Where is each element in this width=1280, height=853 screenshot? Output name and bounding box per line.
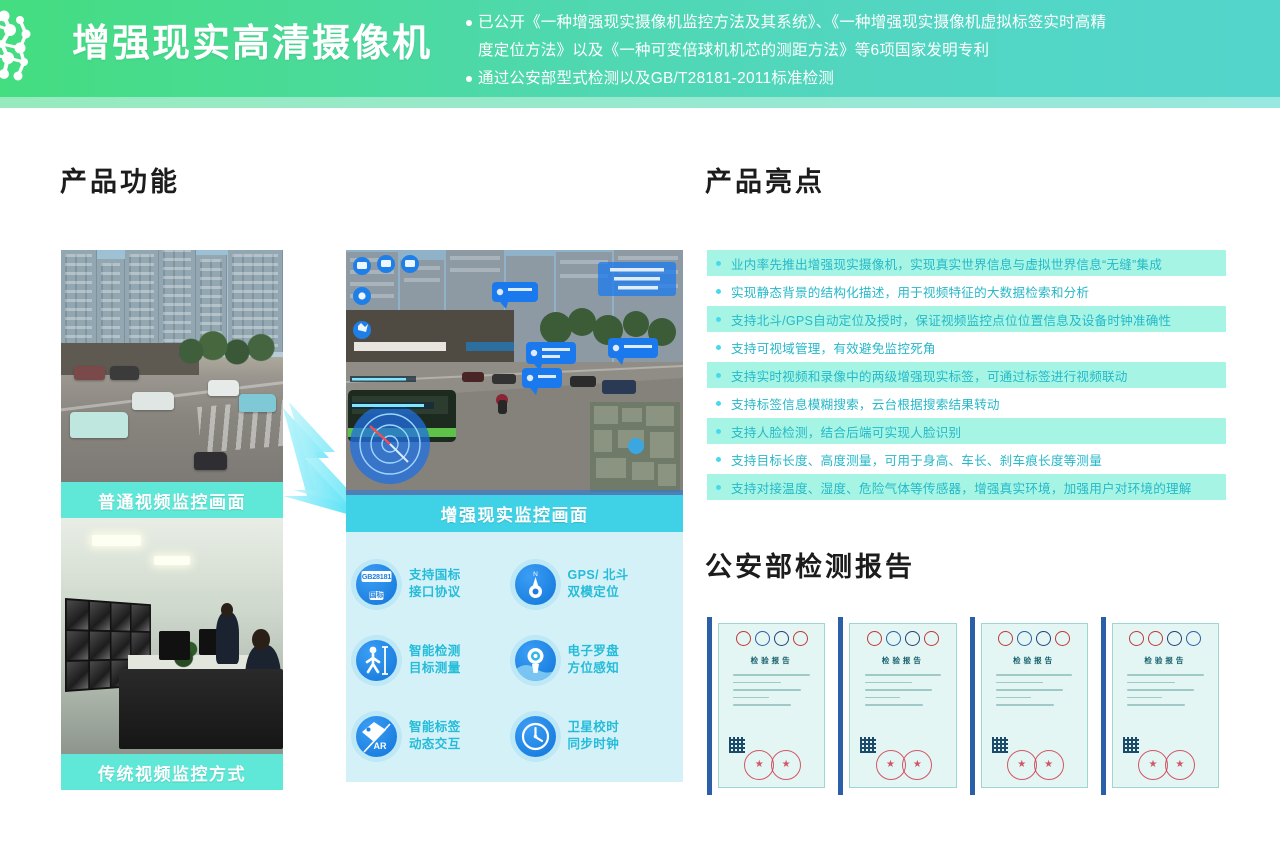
photo-person-standing xyxy=(216,612,238,664)
feature-label: 智能检测 目标测量 xyxy=(409,643,461,677)
svg-text:N: N xyxy=(533,571,538,578)
photo-car xyxy=(208,380,239,396)
photo-monitor xyxy=(159,631,190,659)
bullet-dot-icon xyxy=(716,373,721,378)
feature-electronic-compass[interactable]: 电子罗盘 方位感知 xyxy=(515,624,674,696)
heading-inspection-report: 公安部检测报告 xyxy=(705,545,915,584)
official-stamp-icon xyxy=(744,750,774,780)
bullet-dot-icon xyxy=(716,401,721,406)
feature-label-line1: GPS/ 北斗 xyxy=(568,568,629,582)
certificate-logos xyxy=(725,631,818,646)
photo-car xyxy=(194,452,227,471)
a-mark-logo-icon xyxy=(1055,631,1070,646)
feature-label-line2: 接口协议 xyxy=(409,585,461,599)
photo-building xyxy=(61,250,97,352)
feature-label-line2: 方位感知 xyxy=(568,661,620,675)
certificate-title: 检验报告 xyxy=(1013,655,1055,666)
feature-gps-beidou[interactable]: N GPS/ 北斗 双模定位 xyxy=(515,548,674,620)
official-stamp-icon xyxy=(771,750,801,780)
highlight-text: 支持目标长度、高度测量，可用于身高、车长、刹车痕长度等测量 xyxy=(731,450,1102,469)
cnas-logo-icon xyxy=(1186,631,1201,646)
feature-label-line1: 智能标签 xyxy=(409,720,461,734)
inspection-report-certificate-3[interactable]: 检验报告 xyxy=(970,617,1095,795)
street-intersection-surveillance-photo xyxy=(61,250,283,482)
cnas-logo-icon xyxy=(1036,631,1051,646)
lab-logo-icon xyxy=(886,631,901,646)
header-bullet-text: 通过公安部型式检测以及GB/T28181-2011标准检测 xyxy=(478,66,834,91)
certificate-title: 检验报告 xyxy=(882,655,924,666)
bullet-dot-icon xyxy=(716,317,721,322)
certificate-body-lines xyxy=(865,674,941,712)
inspection-report-certificate-2[interactable]: 检验报告 xyxy=(838,617,963,795)
gb28181-badge-bottom: 国标 xyxy=(370,591,384,600)
highlights-list: 业内率先推出增强现实摄像机，实现真实世界信息与虚拟世界信息“无缝”集成 实现静态… xyxy=(707,250,1226,502)
header-bullet-list: 已公开《一种增强现实摄像机监控方法及其系统》、《一种增强现实摄像机虚拟标签实时高… xyxy=(466,10,1266,94)
svg-text:AR: AR xyxy=(374,741,387,751)
ar-augmented-street-monitoring-screenshot xyxy=(346,250,683,495)
certificate-logos xyxy=(856,631,949,646)
header-bullet-text-2: 度定位方法》以及《一种可变倍球机机芯的测距方法》等6项国家发明专利 xyxy=(466,38,989,63)
photo-car xyxy=(132,392,174,411)
feature-label-line2: 双模定位 xyxy=(568,585,620,599)
photo-car xyxy=(70,412,128,438)
ar-tag-icon: AR xyxy=(356,716,397,757)
photo-ceiling-lamp xyxy=(154,556,190,565)
electronic-compass-icon xyxy=(515,640,556,681)
a-mark-logo-icon xyxy=(924,631,939,646)
bullet-dot-icon xyxy=(466,20,472,26)
cma-logo-icon xyxy=(736,631,751,646)
list-item: 支持可视域管理，有效避免监控死角 xyxy=(707,334,1226,360)
page-header: 增强现实高清摄像机 已公开《一种增强现实摄像机监控方法及其系统》、《一种增强现实… xyxy=(0,0,1280,97)
header-bullet-text: 已公开《一种增强现实摄像机监控方法及其系统》、《一种增强现实摄像机虚拟标签实时高… xyxy=(478,10,1106,35)
qr-code-icon xyxy=(1123,737,1139,753)
a-mark-logo-icon xyxy=(793,631,808,646)
highlight-text: 业内率先推出增强现实摄像机，实现真实世界信息与虚拟世界信息“无缝”集成 xyxy=(731,254,1162,273)
feature-label: 支持国标 接口协议 xyxy=(409,567,461,601)
feature-gb28181[interactable]: GB28181 国标 支持国标 接口协议 xyxy=(356,548,515,620)
certificate-title: 检验报告 xyxy=(751,655,793,666)
list-item: 支持人脸检测，结合后端可实现人脸识别 xyxy=(707,418,1226,444)
lab-logo-icon xyxy=(1017,631,1032,646)
photo-ceiling xyxy=(61,518,283,589)
feature-label-line1: 卫星校时 xyxy=(568,720,620,734)
photo-trees xyxy=(179,329,279,366)
cnas-logo-icon xyxy=(774,631,789,646)
list-item: 支持对接温度、湿度、危险气体等传感器，增强真实环境，加强用户对环境的理解 xyxy=(707,474,1226,500)
photo-card-traditional-surveillance: 传统视频监控方式 xyxy=(61,518,283,790)
bullet-dot-icon xyxy=(466,76,472,82)
qr-code-icon xyxy=(860,737,876,753)
photo-building xyxy=(97,259,126,352)
feature-label: 卫星校时 同步时钟 xyxy=(568,719,620,753)
photo-building xyxy=(125,250,158,352)
ar-panel-caption: 增强现实监控画面 xyxy=(346,495,683,532)
official-stamp-icon xyxy=(1034,750,1064,780)
gb28181-badge-icon: GB28181 国标 xyxy=(356,564,397,605)
compass-needle-icon: N xyxy=(515,564,556,605)
header-accent-strip xyxy=(0,97,1280,108)
list-item: 支持北斗/GPS自动定位及授时，保证视频监控点位位置信息及设备时钟准确性 xyxy=(707,306,1226,332)
feature-label-line1: 支持国标 xyxy=(409,568,461,582)
certificate-body-lines xyxy=(1127,674,1203,712)
feature-label-line2: 目标测量 xyxy=(409,661,461,675)
highlight-text: 支持可视域管理，有效避免监控死角 xyxy=(731,338,936,357)
feature-label: 智能标签 动态交互 xyxy=(409,719,461,753)
inspection-report-certificate-4[interactable]: 检验报告 xyxy=(1101,617,1226,795)
bullet-dot-icon xyxy=(716,345,721,350)
certificate-body-lines xyxy=(996,674,1072,712)
feature-ar-tag[interactable]: AR 智能标签 动态交互 xyxy=(356,700,515,772)
header-bullet-item: 已公开《一种增强现实摄像机监控方法及其系统》、《一种增强现实摄像机虚拟标签实时高… xyxy=(466,10,1266,35)
photo-ceiling-lamp xyxy=(92,535,141,547)
photo-caption: 传统视频监控方式 xyxy=(61,754,283,790)
certificate-logos xyxy=(988,631,1081,646)
photo-car xyxy=(110,366,139,380)
bullet-dot-icon xyxy=(716,289,721,294)
lab-logo-icon xyxy=(1167,631,1182,646)
feature-label-line1: 智能检测 xyxy=(409,644,461,658)
certificate-title: 检验报告 xyxy=(1144,655,1186,666)
feature-label: GPS/ 北斗 双模定位 xyxy=(568,567,629,601)
photo-person-head xyxy=(252,629,270,650)
bullet-dot-icon xyxy=(716,457,721,462)
certificates-gallery: 检验报告 检验报告 xyxy=(707,617,1226,795)
inspection-report-certificate-1[interactable]: 检验报告 xyxy=(707,617,832,795)
highlight-text: 支持人脸检测，结合后端可实现人脸识别 xyxy=(731,422,961,441)
official-stamp-icon xyxy=(876,750,906,780)
cma-logo-icon xyxy=(998,631,1013,646)
clock-icon xyxy=(515,716,556,757)
cma-logo-icon xyxy=(867,631,882,646)
feature-label-line1: 电子罗盘 xyxy=(568,644,620,658)
feature-label: 电子罗盘 方位感知 xyxy=(568,643,620,677)
molecule-network-logo-icon xyxy=(0,6,60,92)
bullet-dot-icon xyxy=(716,485,721,490)
bullet-dot-icon xyxy=(716,429,721,434)
poster-page: 增强现实高清摄像机 已公开《一种增强现实摄像机监控方法及其系统》、《一种增强现实… xyxy=(0,0,1280,853)
list-item: 支持标签信息模糊搜索，云台根据搜索结果转动 xyxy=(707,390,1226,416)
ar-feature-grid: GB28181 国标 支持国标 接口协议 N xyxy=(346,532,683,782)
header-bullet-item: 通过公安部型式检测以及GB/T28181-2011标准检测 xyxy=(466,66,1266,91)
cma-logo-icon xyxy=(1129,631,1144,646)
highlight-text: 支持实时视频和录像中的两级增强现实标签，可通过标签进行视频联动 xyxy=(731,366,1128,385)
feature-label-line2: 动态交互 xyxy=(409,737,461,751)
cnas-logo-icon xyxy=(905,631,920,646)
header-bullet-item-continuation: 度定位方法》以及《一种可变倍球机机芯的测距方法》等6项国家发明专利 xyxy=(466,38,1266,63)
heading-product-function: 产品功能 xyxy=(60,160,180,199)
photo-person-head xyxy=(221,603,233,617)
feature-satellite-clock[interactable]: 卫星校时 同步时钟 xyxy=(515,700,674,772)
photo-car xyxy=(239,394,277,413)
ar-panel: 增强现实监控画面 GB28181 国标 支持国标 接口协议 N xyxy=(346,250,683,782)
photo-card-normal-surveillance: 普通视频监控画面 xyxy=(61,250,283,518)
qr-code-icon xyxy=(729,737,745,753)
page-title: 增强现实高清摄像机 xyxy=(72,18,432,70)
pedestrian-measure-icon xyxy=(356,640,397,681)
ar-scene-graphic xyxy=(346,250,683,495)
feature-label-line2: 同步时钟 xyxy=(568,737,620,751)
official-stamp-icon xyxy=(1138,750,1168,780)
highlight-text: 支持北斗/GPS自动定位及授时，保证视频监控点位位置信息及设备时钟准确性 xyxy=(731,310,1171,329)
official-stamp-icon xyxy=(1165,750,1195,780)
qr-code-icon xyxy=(992,737,1008,753)
lab-logo-icon xyxy=(755,631,770,646)
highlight-text: 支持标签信息模糊搜索，云台根据搜索结果转动 xyxy=(731,394,1000,413)
list-item: 支持目标长度、高度测量，可用于身高、车长、刹车痕长度等测量 xyxy=(707,446,1226,472)
heading-product-highlights: 产品亮点 xyxy=(705,160,825,199)
highlight-text: 实现静态背景的结构化描述，用于视频特征的大数据检索和分析 xyxy=(731,282,1089,301)
list-item: 支持实时视频和录像中的两级增强现实标签，可通过标签进行视频联动 xyxy=(707,362,1226,388)
feature-target-measure[interactable]: 智能检测 目标测量 xyxy=(356,624,515,696)
photo-desk xyxy=(119,669,283,749)
highlight-text: 支持对接温度、湿度、危险气体等传感器，增强真实环境，加强用户对环境的理解 xyxy=(731,478,1192,497)
certificate-body-lines xyxy=(733,674,809,712)
photo-caption: 普通视频监控画面 xyxy=(61,482,283,518)
a-mark-logo-icon xyxy=(1148,631,1163,646)
gb28181-badge-top: GB28181 xyxy=(362,571,391,582)
bullet-dot-icon xyxy=(716,261,721,266)
photo-car xyxy=(74,366,105,380)
control-room-video-wall-photo xyxy=(61,518,283,754)
official-stamp-icon xyxy=(1007,750,1037,780)
certificate-logos xyxy=(1119,631,1212,646)
official-stamp-icon xyxy=(902,750,932,780)
list-item: 业内率先推出增强现实摄像机，实现真实世界信息与虚拟世界信息“无缝”集成 xyxy=(707,250,1226,276)
list-item: 实现静态背景的结构化描述，用于视频特征的大数据检索和分析 xyxy=(707,278,1226,304)
